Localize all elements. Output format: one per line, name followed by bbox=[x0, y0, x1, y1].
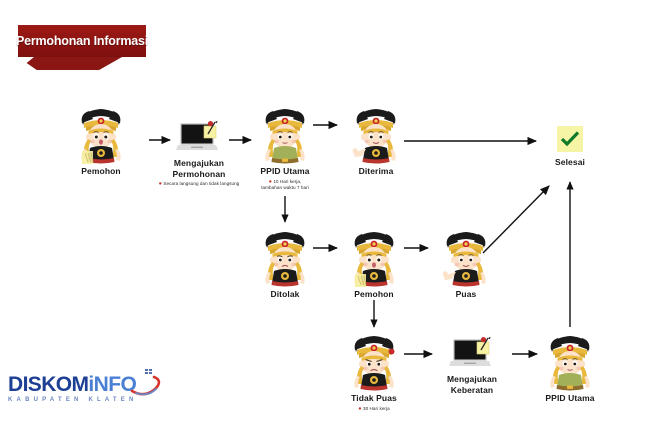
node-label: Mengajukan Keberatan bbox=[447, 374, 497, 395]
node-note: ● 30 Hari kerja bbox=[358, 406, 389, 413]
character-ppid-icon bbox=[257, 103, 313, 165]
node-label: Diterima bbox=[359, 166, 394, 177]
logo-word-part-1: DISKOM bbox=[8, 374, 88, 395]
note-text: Secara langsung dan tidak langsung bbox=[163, 181, 239, 186]
node-label: Tidak Puas bbox=[351, 393, 397, 404]
node-label: Mengajukan Permohonan bbox=[173, 158, 226, 179]
character-angry-icon bbox=[346, 330, 402, 392]
node-mengajukan-permohonan[interactable]: Mengajukan Permohonan ● Secara langsung … bbox=[151, 119, 247, 188]
note-bullet: ● bbox=[269, 179, 272, 185]
note-bullet: ● bbox=[358, 406, 361, 412]
node-diterima[interactable]: Diterima bbox=[328, 103, 424, 177]
node-label: Puas bbox=[456, 289, 477, 300]
node-label: PPID Utama bbox=[545, 393, 594, 404]
character-ppid-icon bbox=[542, 330, 598, 392]
node-pemohon-start[interactable]: Pemohon bbox=[53, 103, 149, 177]
node-label: PPID Utama bbox=[260, 166, 309, 177]
logo-wordmark: DISKOMiNFO bbox=[8, 374, 158, 395]
node-tidak-puas[interactable]: Tidak Puas ● 30 Hari kerja bbox=[326, 330, 422, 412]
node-puas[interactable]: Puas bbox=[418, 226, 514, 300]
node-label: Selesai bbox=[555, 157, 585, 168]
node-note: ● 10 Hari kerja, tambahan waktu 7 hari bbox=[261, 179, 309, 192]
laptop-icon bbox=[175, 119, 223, 157]
infographic-canvas: Permohonan Informasi bbox=[0, 0, 650, 433]
node-ppid-utama-top[interactable]: PPID Utama ● 10 Hari kerja, tambahan wak… bbox=[237, 103, 333, 192]
checkmark-box-icon bbox=[557, 126, 583, 152]
diskominfo-logo: DISKOMiNFO KABUPATEN KLATEN bbox=[8, 374, 158, 403]
node-label: Pemohon bbox=[354, 289, 393, 300]
logo-swoosh-icon bbox=[128, 369, 162, 397]
note-text: 30 Hari kerja bbox=[363, 406, 390, 411]
character-pemohon-icon bbox=[73, 103, 129, 165]
character-thumbsup-icon bbox=[438, 226, 494, 288]
check-icon bbox=[560, 131, 580, 147]
node-pemohon-mid[interactable]: Pemohon bbox=[326, 226, 422, 300]
node-ditolak[interactable]: Ditolak bbox=[237, 226, 333, 300]
logo-subtitle: KABUPATEN KLATEN bbox=[8, 397, 158, 403]
node-selesai[interactable]: Selesai bbox=[522, 126, 618, 168]
character-pemohon-icon bbox=[346, 226, 402, 288]
node-label: Ditolak bbox=[270, 289, 299, 300]
character-sad-icon bbox=[257, 226, 313, 288]
title-banner: Permohonan Informasi bbox=[18, 25, 146, 57]
node-note: ● Secara langsung dan tidak langsung bbox=[159, 181, 240, 188]
laptop-icon bbox=[448, 335, 496, 373]
note-bullet: ● bbox=[159, 181, 162, 187]
character-thumbsup-icon bbox=[348, 103, 404, 165]
node-mengajukan-keberatan[interactable]: Mengajukan Keberatan bbox=[424, 335, 520, 395]
node-ppid-utama-bottom[interactable]: PPID Utama bbox=[522, 330, 618, 404]
node-label: Pemohon bbox=[81, 166, 120, 177]
page-title: Permohonan Informasi bbox=[18, 25, 146, 57]
banner-tail bbox=[18, 57, 122, 70]
